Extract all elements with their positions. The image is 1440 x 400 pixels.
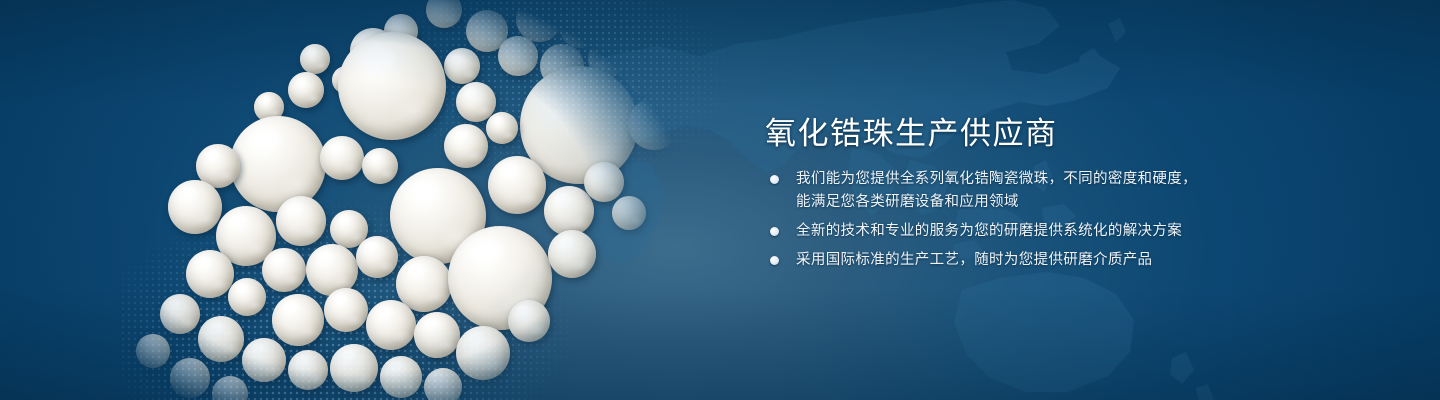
- list-item: 我们能为您提供全系列氧化锆陶瓷微珠，不同的密度和硬度， 能满足您各类研磨设备和应…: [768, 168, 1197, 214]
- list-item: 全新的技术和专业的服务为您的研磨提供系统化的解决方案: [768, 220, 1197, 243]
- product-hero-banner: 氧化锆珠生产供应商 我们能为您提供全系列氧化锆陶瓷微珠，不同的密度和硬度， 能满…: [0, 0, 1440, 400]
- feature-text-line2: 能满足您各类研磨设备和应用领域: [796, 191, 1197, 214]
- feature-text-line1: 全新的技术和专业的服务为您的研磨提供系统化的解决方案: [796, 223, 1182, 239]
- bullet-dot-icon: [770, 256, 779, 265]
- feature-text-line1: 我们能为您提供全系列氧化锆陶瓷微珠，不同的密度和硬度，: [796, 171, 1197, 187]
- list-item: 采用国际标准的生产工艺，随时为您提供研磨介质产品: [768, 249, 1197, 272]
- page-title: 氧化锆珠生产供应商: [765, 108, 1058, 153]
- bullet-dot-icon: [770, 175, 779, 184]
- bullet-dot-icon: [770, 227, 779, 236]
- banner-copy: 氧化锆珠生产供应商 我们能为您提供全系列氧化锆陶瓷微珠，不同的密度和硬度， 能满…: [765, 0, 1405, 400]
- feature-text-line1: 采用国际标准的生产工艺，随时为您提供研磨介质产品: [796, 252, 1152, 268]
- feature-list: 我们能为您提供全系列氧化锆陶瓷微珠，不同的密度和硬度， 能满足您各类研磨设备和应…: [768, 168, 1197, 278]
